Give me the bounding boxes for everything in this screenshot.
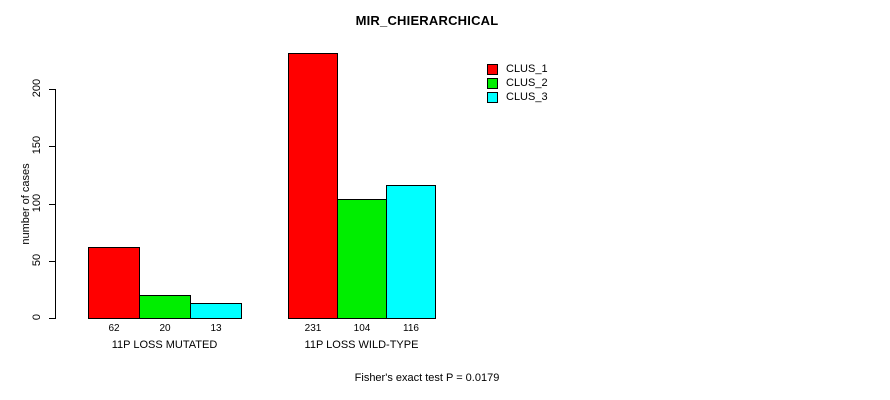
bar-clus_3-group1 (190, 303, 242, 319)
bar-count-label: 62 (88, 323, 140, 334)
legend-swatch-icon (487, 78, 498, 89)
bar-clus_3-group2 (386, 185, 436, 319)
legend-item-clus_1: CLUS_1 (487, 62, 548, 76)
legend-label: CLUS_2 (506, 78, 548, 89)
bar-clus_2-group2 (337, 199, 387, 319)
legend-item-clus_3: CLUS_3 (487, 90, 548, 104)
legend-swatch-icon (487, 92, 498, 103)
legend-label: CLUS_3 (506, 92, 548, 103)
bar-count-label: 231 (288, 323, 338, 334)
legend-label: CLUS_1 (506, 64, 548, 75)
bar-count-label: 20 (139, 323, 191, 334)
fishers-test-annotation: Fisher's exact test P = 0.0179 (0, 372, 872, 384)
bar-count-label: 116 (386, 323, 436, 334)
bar-count-label: 13 (190, 323, 242, 334)
bar-clus_1-group1 (88, 247, 140, 319)
legend-item-clus_2: CLUS_2 (487, 76, 548, 90)
bar-clus_2-group1 (139, 295, 191, 319)
bar-count-label: 104 (337, 323, 387, 334)
bar-clus_1-group2 (288, 53, 338, 319)
legend-swatch-icon (487, 64, 498, 75)
chart-canvas: MIR_CHIERARCHICAL 050100150200 number of… (0, 0, 890, 400)
group-label-1: 11P LOSS MUTATED (88, 339, 241, 351)
chart-legend: CLUS_1CLUS_2CLUS_3 (487, 62, 548, 104)
group-label-2: 11P LOSS WILD-TYPE (288, 339, 435, 351)
